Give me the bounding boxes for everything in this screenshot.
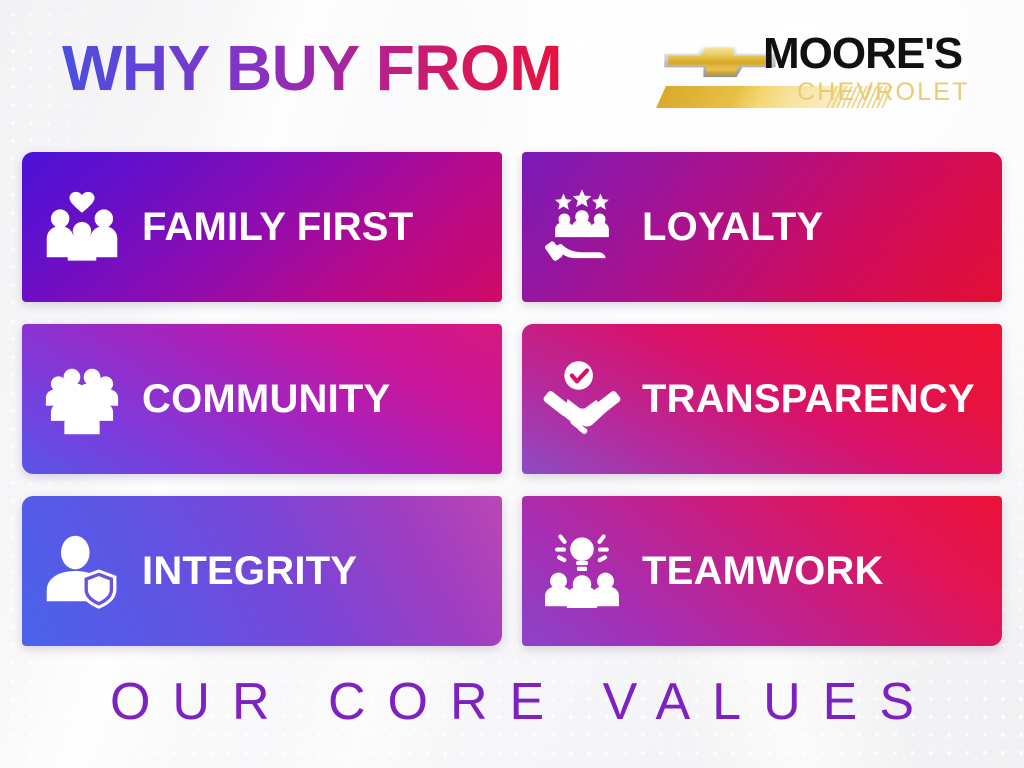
page-title: WHY BUY FROM xyxy=(62,36,562,100)
chevrolet-bowtie-icon xyxy=(661,40,779,82)
value-card-teamwork[interactable]: TEAMWORK xyxy=(522,496,1002,646)
values-grid: FAMILY FIRST LOYALTY xyxy=(22,152,1002,646)
value-card-label: COMMUNITY xyxy=(142,379,390,419)
people-group-icon xyxy=(22,324,142,474)
value-card-label: TEAMWORK xyxy=(642,551,884,591)
value-card-community[interactable]: COMMUNITY xyxy=(22,324,502,474)
family-heart-icon xyxy=(22,152,142,302)
logo-brand-sub: CHEVROLET xyxy=(797,80,970,105)
logo-brand-name: MOORE'S xyxy=(763,32,962,76)
value-card-label: FAMILY FIRST xyxy=(142,207,413,247)
dealer-logo: MOORE'S CHEVROLET xyxy=(655,30,985,120)
value-card-label: INTEGRITY xyxy=(142,551,357,591)
handshake-check-icon xyxy=(522,324,642,474)
lightbulb-team-icon xyxy=(522,496,642,646)
value-card-label: TRANSPARENCY xyxy=(642,379,975,419)
value-card-label: LOYALTY xyxy=(642,207,823,247)
value-card-transparency[interactable]: TRANSPARENCY xyxy=(522,324,1002,474)
value-card-loyalty[interactable]: LOYALTY xyxy=(522,152,1002,302)
person-shield-icon xyxy=(22,496,142,646)
value-card-integrity[interactable]: INTEGRITY xyxy=(22,496,502,646)
value-card-family-first[interactable]: FAMILY FIRST xyxy=(22,152,502,302)
footer-tagline: OUR CORE VALUES xyxy=(0,676,1024,728)
poster-canvas: WHY BUY FROM MOORE'S xyxy=(0,0,1024,768)
hand-people-stars-icon xyxy=(522,152,642,302)
